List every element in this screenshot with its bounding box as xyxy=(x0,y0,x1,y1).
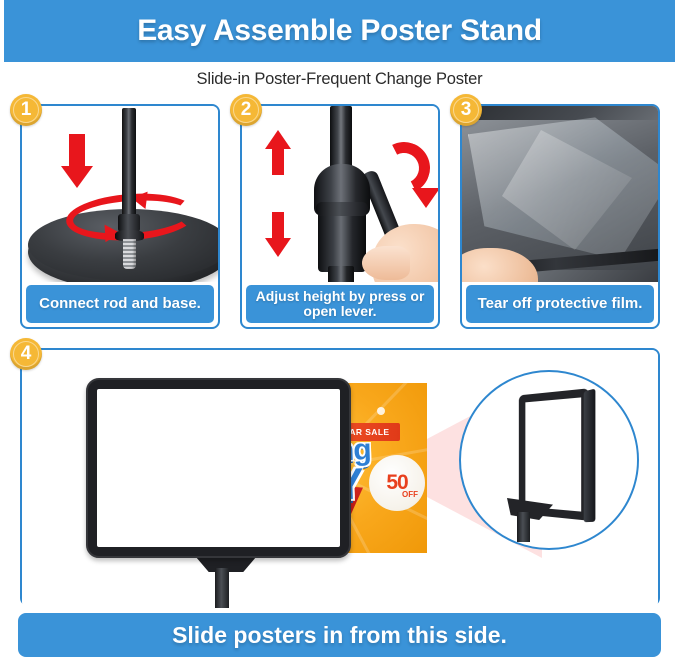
lower-rod xyxy=(328,266,354,282)
callout-frame xyxy=(519,388,589,521)
bottom-banner: Slide posters in from this side. xyxy=(18,613,661,657)
frame-pole xyxy=(215,568,229,608)
finger-illustration xyxy=(362,246,410,280)
step-1-illustration xyxy=(22,106,218,282)
poster-frame xyxy=(86,378,351,558)
callout-frame-edge xyxy=(584,388,596,522)
header-banner: Easy Assemble Poster Stand xyxy=(4,0,675,62)
discount-off-label: OFF xyxy=(402,490,418,499)
step-3-illustration xyxy=(462,106,658,282)
step-panel-3: Tear off protective film. 3 xyxy=(460,104,660,329)
callout-pole xyxy=(517,512,530,542)
step-2-illustration xyxy=(242,106,438,282)
step-badge-1: 1 xyxy=(10,94,42,126)
step-2-caption: Adjust height by press or open lever. xyxy=(246,285,434,323)
step-panel-1: Connect rod and base. 1 xyxy=(20,104,220,329)
step-panel-4: END YEAR SALE Boxing DAY 50 OFF xyxy=(20,348,660,606)
step-4-illustration: END YEAR SALE Boxing DAY 50 OFF xyxy=(22,350,658,608)
discount-badge: 50 OFF xyxy=(369,455,425,511)
clamp-ring xyxy=(316,202,368,216)
curved-arrow-tip-icon xyxy=(412,188,438,208)
step-badge-3: 3 xyxy=(450,94,482,126)
page-title: Easy Assemble Poster Stand xyxy=(137,14,542,48)
step-badge-4: 4 xyxy=(10,338,42,370)
step-badge-2: 2 xyxy=(230,94,262,126)
clamp-barrel xyxy=(318,210,366,272)
step-panel-2: Adjust height by press or open lever. 2 xyxy=(240,104,440,329)
page-subtitle: Slide-in Poster-Frequent Change Poster xyxy=(0,64,679,94)
step-1-caption: Connect rod and base. xyxy=(26,285,214,323)
infographic-page: Easy Assemble Poster Stand Slide-in Post… xyxy=(0,0,679,665)
step-3-caption: Tear off protective film. xyxy=(466,285,654,323)
frame-side-view-callout xyxy=(459,370,639,550)
screw-thread xyxy=(123,239,136,269)
